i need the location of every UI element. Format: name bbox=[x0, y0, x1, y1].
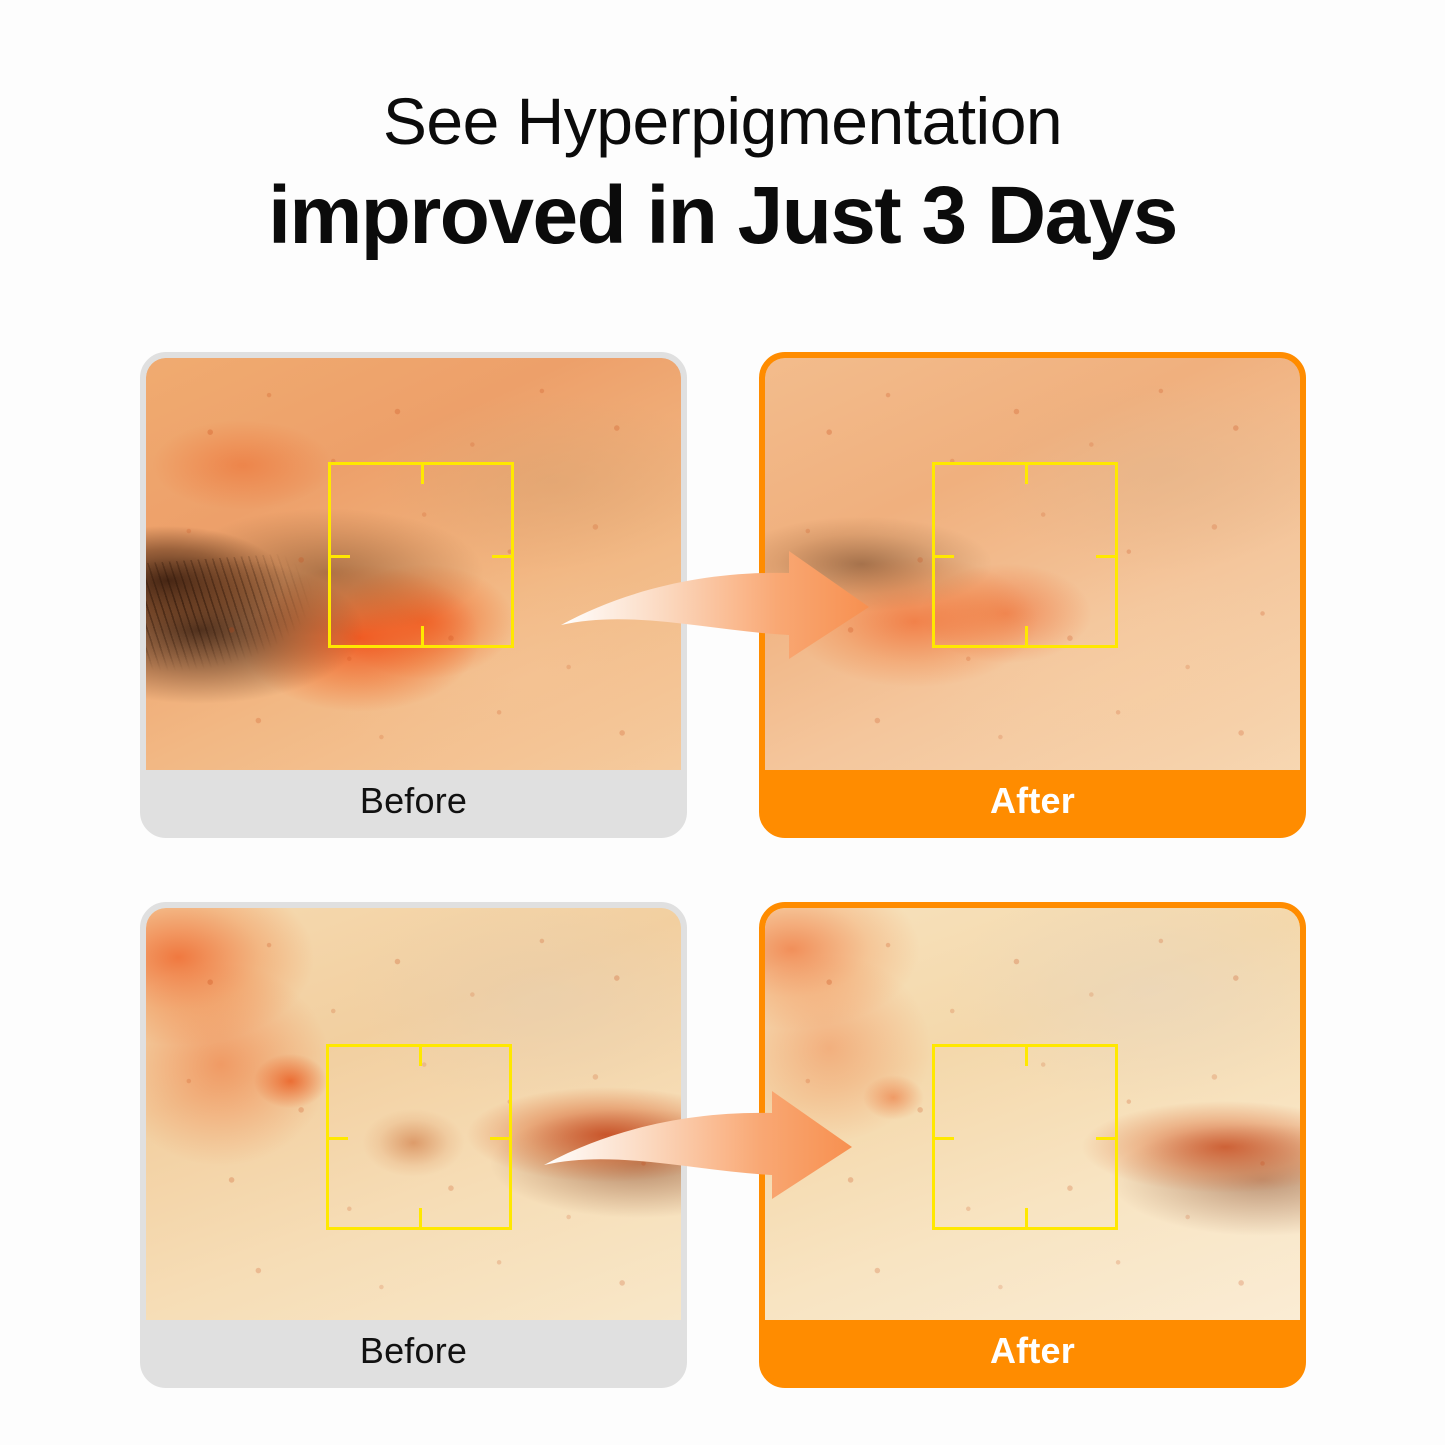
focus-reticle-icon bbox=[326, 1044, 512, 1230]
skin-photo-before-row1 bbox=[146, 358, 681, 770]
reticle-tick-left bbox=[326, 1137, 348, 1140]
reticle-frame bbox=[328, 462, 514, 648]
comparison-card-after-row2: After bbox=[759, 902, 1306, 1388]
caption-after-row1: After bbox=[765, 770, 1300, 832]
reticle-tick-top bbox=[419, 1044, 422, 1066]
reticle-tick-left bbox=[932, 1137, 954, 1140]
caption-before-row1: Before bbox=[146, 770, 681, 832]
reticle-tick-top bbox=[421, 462, 424, 484]
reticle-tick-top bbox=[1025, 1044, 1028, 1066]
skin-photo-after-row1 bbox=[765, 358, 1300, 770]
focus-reticle-icon bbox=[328, 462, 514, 648]
reticle-tick-right bbox=[1096, 1137, 1118, 1140]
page-title: See Hyperpigmentation improved in Just 3… bbox=[0, 78, 1445, 268]
comparison-card-before-row2: Before bbox=[140, 902, 687, 1388]
headline-line-2: improved in Just 3 Days bbox=[0, 164, 1445, 268]
focus-reticle-icon bbox=[932, 462, 1118, 648]
skin-photo-after-row2 bbox=[765, 908, 1300, 1320]
caption-after-row2: After bbox=[765, 1320, 1300, 1382]
headline-line-1: See Hyperpigmentation bbox=[0, 78, 1445, 164]
reticle-tick-left bbox=[932, 555, 954, 558]
reticle-tick-bottom bbox=[1025, 1208, 1028, 1230]
before-after-grid: Before After bbox=[140, 352, 1306, 1388]
reticle-tick-right bbox=[490, 1137, 512, 1140]
reticle-frame bbox=[932, 462, 1118, 648]
skin-photo-before-row2 bbox=[146, 908, 681, 1320]
reticle-tick-bottom bbox=[419, 1208, 422, 1230]
comparison-card-before-row1: Before bbox=[140, 352, 687, 838]
reticle-tick-right bbox=[1096, 555, 1118, 558]
focus-reticle-icon bbox=[932, 1044, 1118, 1230]
caption-before-row2: Before bbox=[146, 1320, 681, 1382]
reticle-frame bbox=[326, 1044, 512, 1230]
reticle-tick-bottom bbox=[1025, 626, 1028, 648]
promo-image-root: See Hyperpigmentation improved in Just 3… bbox=[0, 0, 1445, 1445]
reticle-tick-bottom bbox=[421, 626, 424, 648]
reticle-tick-left bbox=[328, 555, 350, 558]
comparison-card-after-row1: After bbox=[759, 352, 1306, 838]
reticle-tick-top bbox=[1025, 462, 1028, 484]
reticle-frame bbox=[932, 1044, 1118, 1230]
reticle-tick-right bbox=[492, 555, 514, 558]
